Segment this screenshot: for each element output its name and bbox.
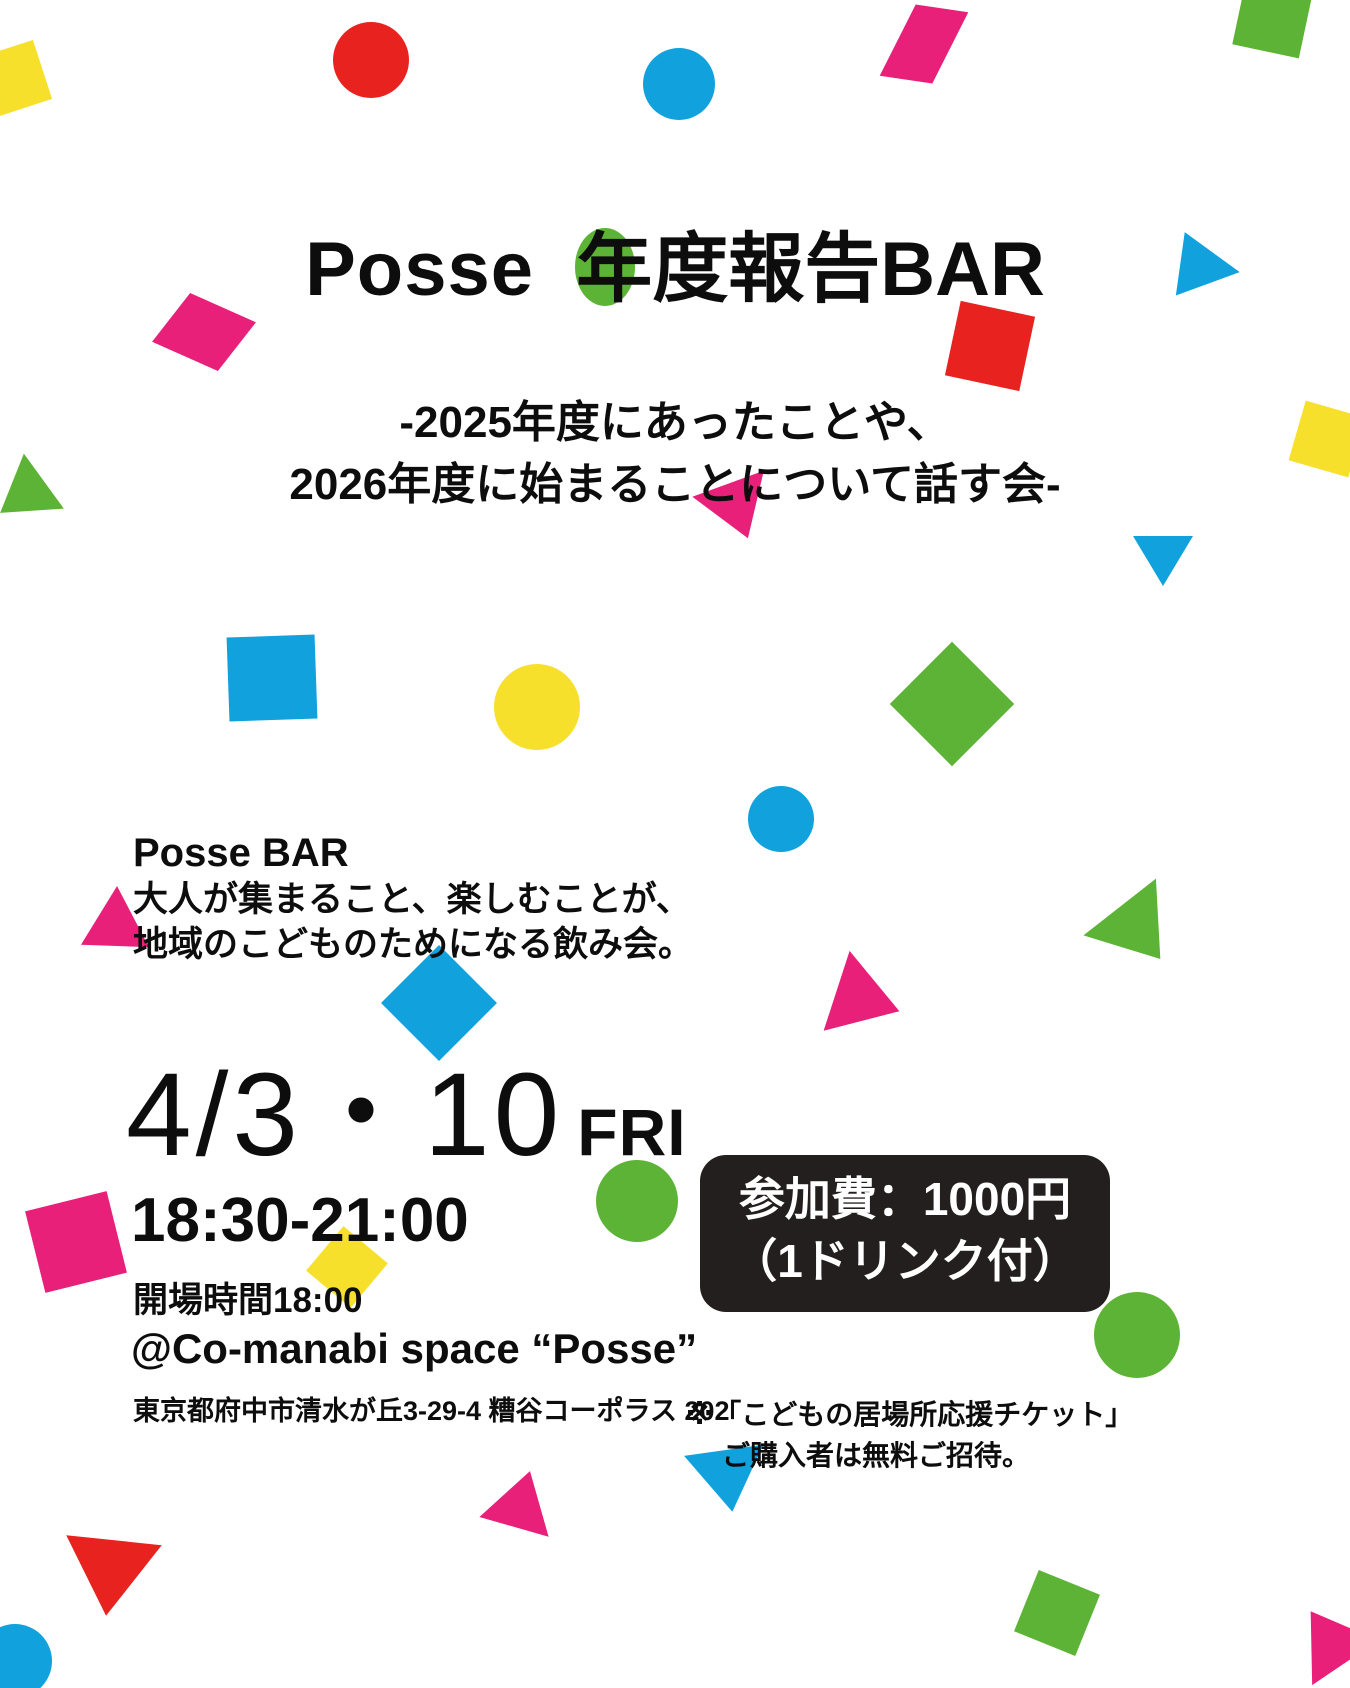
confetti-pink-triangle-bottom-right: [1278, 1589, 1350, 1685]
event-venue: @Co-manabi space “Posse”: [131, 1325, 697, 1373]
confetti-green-diamond: [890, 642, 1014, 766]
confetti-red-triangle-bottom-left: [58, 1535, 161, 1621]
confetti-green-triangle-right-mid: [1083, 879, 1196, 988]
ticket-note: ※「こどもの居場所応援チケット」 ご購入者は無料ご招待。: [686, 1395, 1133, 1476]
confetti-red-square: [945, 301, 1035, 391]
event-day-of-week: FRI: [563, 1095, 686, 1169]
page-title: Posse 年度報告BAR: [0, 232, 1350, 308]
confetti-pink-square-left: [25, 1191, 127, 1293]
confetti-green-square: [1232, 0, 1311, 58]
bar-description: 大人が集まること、楽しむことが、 地域のこどものためになる飲み会。: [133, 878, 833, 968]
price-badge: 参加費：1000円 （1ドリンク付）: [700, 1155, 1110, 1312]
price-badge-fee: 参加費：1000円: [720, 1169, 1090, 1231]
bar-description-block: Posse BAR 大人が集まること、楽しむことが、 地域のこどものためになる飲…: [133, 830, 833, 968]
confetti-green-square-bottom: [1014, 1570, 1100, 1656]
poster-canvas: Posse 年度報告BAR -2025年度にあったことや、 2026年度に始まる…: [0, 0, 1350, 1688]
confetti-blue-square-mid: [227, 634, 318, 721]
confetti-yellow-square: [0, 40, 52, 118]
confetti-red-circle: [333, 22, 409, 98]
event-open-time: 開場時間18:00: [133, 1272, 363, 1323]
bar-description-line-2: 地域のこどものためになる飲み会。: [133, 923, 833, 968]
bar-name: Posse BAR: [133, 830, 833, 876]
title-japanese: 年度報告BAR: [576, 227, 1045, 312]
event-address: 東京都府中市清水が丘3-29-4 糟谷コーポラス 202: [133, 1389, 730, 1428]
page-subtitle: -2025年度にあったことや、 2026年度に始まることについて話す会-: [0, 392, 1350, 517]
confetti-blue-triangle-right: [1133, 536, 1193, 586]
event-time: 18:30-21:00: [131, 1185, 469, 1256]
price-badge-drink: （1ドリンク付）: [720, 1231, 1090, 1293]
confetti-green-circle-badge-right: [1094, 1292, 1180, 1378]
subtitle-line-1: -2025年度にあったことや、: [0, 392, 1350, 454]
bar-description-line-1: 大人が集まること、楽しむことが、: [133, 878, 833, 923]
ticket-note-line-2: ご購入者は無料ご招待。: [686, 1436, 1133, 1477]
confetti-pink-triangle-bottom: [479, 1461, 564, 1537]
confetti-pink-parallelogram: [880, 4, 969, 83]
confetti-yellow-circle: [494, 664, 580, 750]
title-latin: Posse: [305, 227, 534, 312]
subtitle-line-2: 2026年度に始まることについて話す会-: [0, 454, 1350, 516]
event-date-value: 4/3・10: [126, 1049, 563, 1181]
confetti-blue-circle-bottom-left: [0, 1624, 52, 1688]
ticket-note-line-1: ※「こどもの居場所応援チケット」: [686, 1399, 1133, 1430]
confetti-blue-circle: [643, 48, 715, 120]
